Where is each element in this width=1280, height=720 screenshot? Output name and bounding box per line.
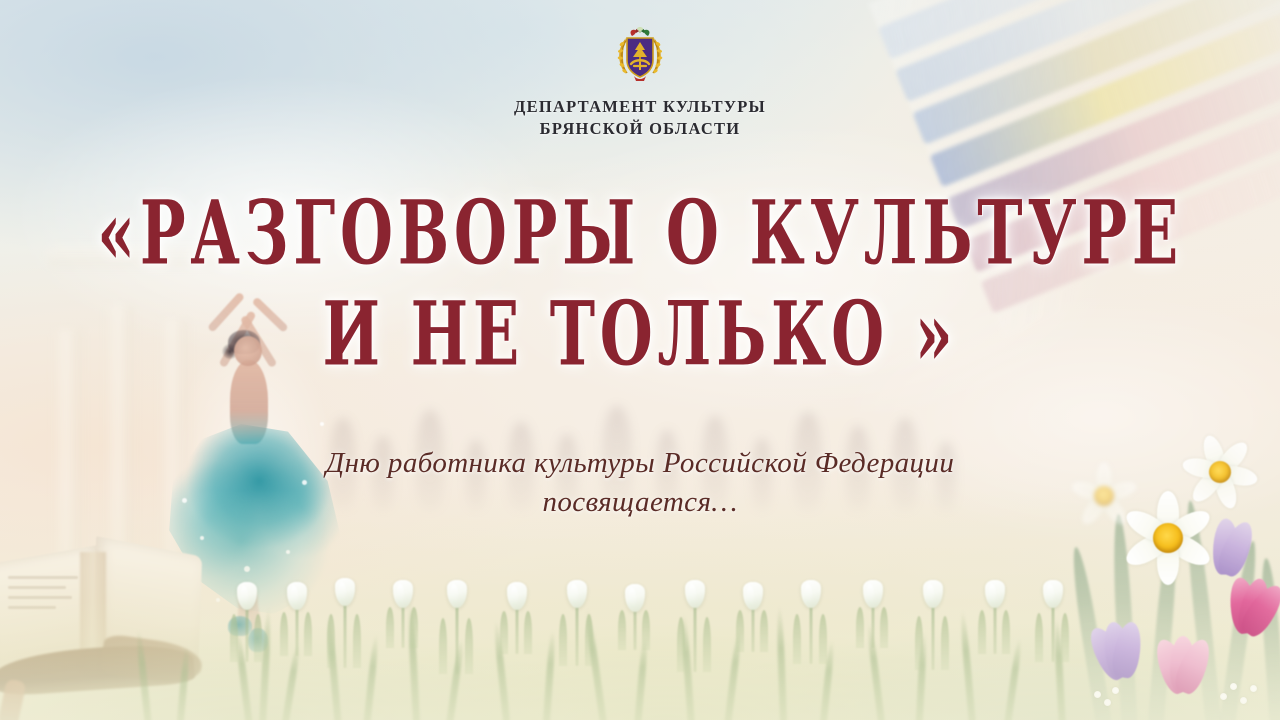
title-line-1: «РАЗГОВОРЫ О КУЛЬТУРЕ <box>38 188 1241 279</box>
slide-title: «РАЗГОВОРЫ О КУЛЬТУРЕ И НЕ ТОЛЬКО » <box>0 196 1280 372</box>
slide-header: ДЕПАРТАМЕНТ КУЛЬТУРЫ БРЯНСКОЙ ОБЛАСТИ <box>0 26 1280 140</box>
department-name: ДЕПАРТАМЕНТ КУЛЬТУРЫ БРЯНСКОЙ ОБЛАСТИ <box>514 96 766 140</box>
presentation-slide: ДЕПАРТАМЕНТ КУЛЬТУРЫ БРЯНСКОЙ ОБЛАСТИ «Р… <box>0 0 1280 720</box>
slide-subtitle: Дню работника культуры Российской Федера… <box>0 444 1280 522</box>
title-line-2: И НЕ ТОЛЬКО » <box>38 289 1241 380</box>
bryansk-oblast-coat-of-arms-icon <box>614 26 666 84</box>
